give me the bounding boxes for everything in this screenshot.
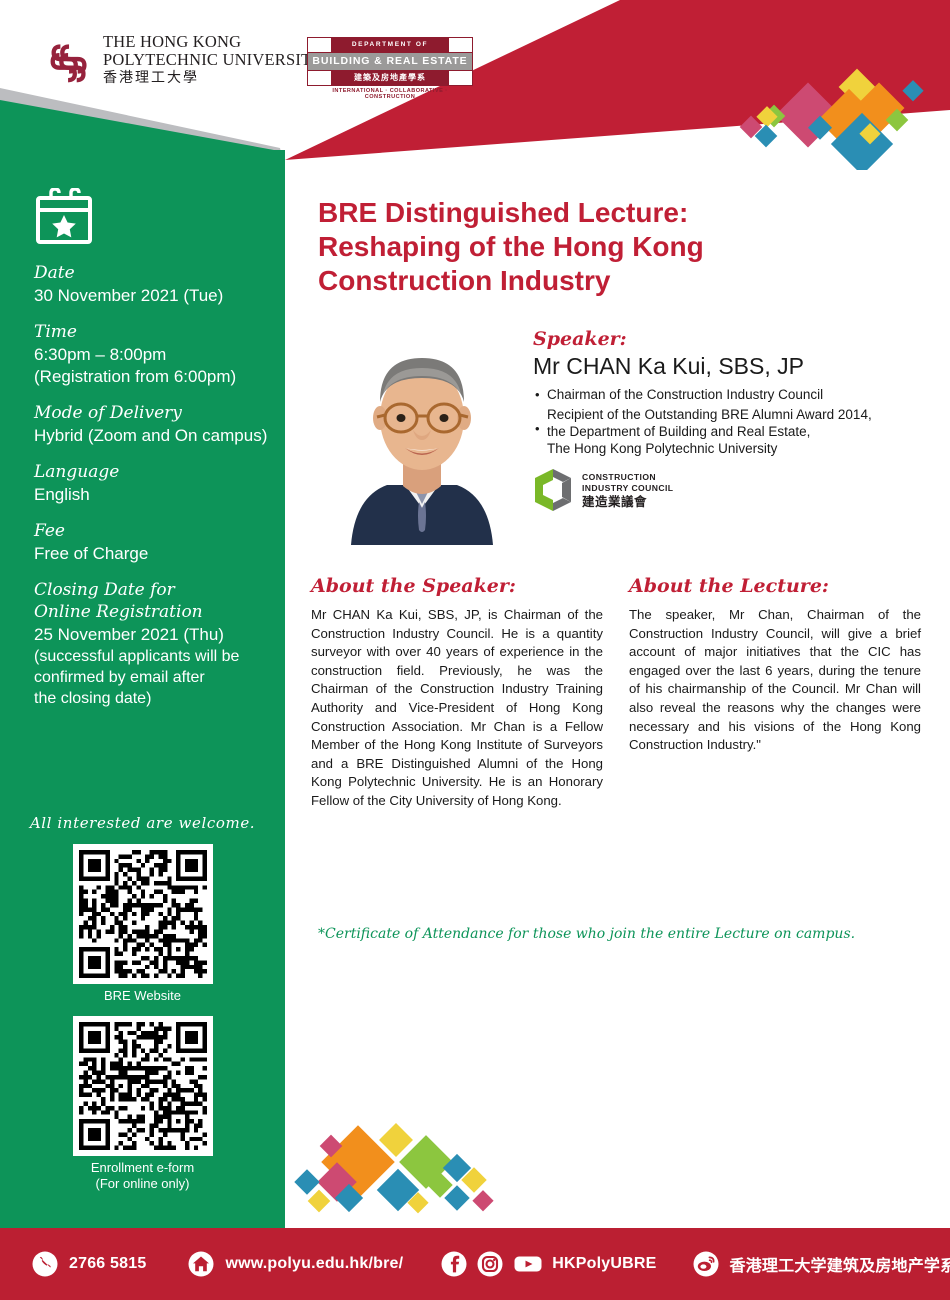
bre-logo-line1: DEPARTMENT OF xyxy=(332,38,448,52)
footer-phone-number: 2766 5815 xyxy=(69,1255,146,1273)
bre-department-logo: DEPARTMENT OF BUILDING & REAL ESTATE 建築及… xyxy=(307,37,473,100)
sidebar: Date 30 November 2021 (Tue) Time 6:30pm … xyxy=(0,150,285,1228)
polyu-logo-chinese: 香港理工大學 xyxy=(103,69,323,87)
sidebar-label-language: Language xyxy=(34,461,284,483)
qr-block-enrollment[interactable]: Enrollment e-form (For online only) xyxy=(0,1016,285,1192)
footer-social-handles[interactable]: HKPolyUBRE xyxy=(441,1251,656,1277)
speaker-portrait-illustration xyxy=(333,330,511,545)
main-content: BRE Distinguished Lecture: Reshaping of … xyxy=(285,150,950,1228)
sidebar-label-closing-date: Closing Date for Online Registration xyxy=(34,579,284,623)
sidebar-note-closing-date: (successful applicants will be confirmed… xyxy=(34,646,284,709)
speaker-info: Speaker: Mr CHAN Ka Kui, SBS, JP Chairma… xyxy=(533,328,933,460)
youtube-icon[interactable] xyxy=(513,1251,543,1277)
bre-logo-tagline: INTERNATIONAL · COLLABORATIVE · CONSTRUC… xyxy=(307,88,473,100)
column-about-speaker: About the Speaker: Mr CHAN Ka Kui, SBS, … xyxy=(311,575,603,811)
certificate-note: *Certificate of Attendance for those who… xyxy=(318,926,918,942)
sidebar-item-closing-date: Closing Date for Online Registration 25 … xyxy=(34,579,284,709)
column-body-about-lecture: The speaker, Mr Chan, Chairman of the Co… xyxy=(629,606,921,755)
sidebar-label-time: Time xyxy=(34,321,284,343)
sidebar-value-time: 6:30pm – 8:00pm (Registration from 6:00p… xyxy=(34,344,284,388)
footer-website[interactable]: www.polyu.edu.hk/bre/ xyxy=(188,1251,403,1277)
qr-code-icon[interactable] xyxy=(79,850,207,978)
page-title: BRE Distinguished Lecture: Reshaping of … xyxy=(318,196,918,298)
column-heading-about-speaker: About the Speaker: xyxy=(311,575,603,597)
sidebar-item-time: Time 6:30pm – 8:00pm (Registration from … xyxy=(34,321,284,388)
facebook-icon[interactable] xyxy=(441,1251,467,1277)
polyu-logo-line1: THE HONG KONG xyxy=(103,33,323,51)
footer-diamond-cluster xyxy=(290,1110,520,1230)
qr-code-enrollment[interactable] xyxy=(73,1016,213,1156)
polyu-emblem-icon xyxy=(46,36,94,84)
footer-weibo-handle: 香港理工大学建筑及房地产学系 xyxy=(730,1252,950,1276)
qr-code-bre-website[interactable] xyxy=(73,844,213,984)
sidebar-value-language: English xyxy=(34,484,284,506)
sidebar-info-list: Date 30 November 2021 (Tue) Time 6:30pm … xyxy=(34,262,284,723)
speaker-name: Mr CHAN Ka Kui, SBS, JP xyxy=(533,352,933,381)
sidebar-label-mode: Mode of Delivery xyxy=(34,402,284,424)
qr-block-bre-website[interactable]: BRE Website xyxy=(0,844,285,1004)
polyu-logo: THE HONG KONG POLYTECHNIC UNIVERSITY 香港理… xyxy=(46,33,323,87)
qr-caption-bre-website: BRE Website xyxy=(0,988,285,1004)
speaker-portrait xyxy=(333,330,511,545)
speaker-credential-item: Recipient of the Outstanding BRE Alumni … xyxy=(533,406,933,457)
column-about-lecture: About the Lecture: The speaker, Mr Chan,… xyxy=(629,575,921,811)
sidebar-label-date: Date xyxy=(34,262,284,284)
column-heading-about-lecture: About the Lecture: xyxy=(629,575,921,597)
bre-logo-line2: BUILDING & REAL ESTATE xyxy=(308,52,472,71)
cic-logo-chinese: 建造業議會 xyxy=(582,494,673,509)
footer-website-url[interactable]: www.polyu.edu.hk/bre/ xyxy=(225,1255,403,1273)
poster-root: THE HONG KONG POLYTECHNIC UNIVERSITY 香港理… xyxy=(0,0,950,1300)
sidebar-label-fee: Fee xyxy=(34,520,284,542)
polyu-logo-line2: POLYTECHNIC UNIVERSITY xyxy=(103,51,323,69)
speaker-kicker: Speaker: xyxy=(533,328,933,350)
cic-logo-line2: INDUSTRY COUNCIL xyxy=(582,483,673,494)
cic-logo-line1: CONSTRUCTION xyxy=(582,472,673,483)
column-body-about-speaker: Mr CHAN Ka Kui, SBS, JP, is Chairman of … xyxy=(311,606,603,811)
calendar-star-icon xyxy=(34,188,94,246)
footer-weibo[interactable]: 香港理工大学建筑及房地产学系 xyxy=(693,1251,950,1277)
bre-logo-chinese: 建築及房地產學系 xyxy=(332,71,448,85)
sidebar-value-closing-date: 25 November 2021 (Thu) xyxy=(34,624,284,646)
footer-phone[interactable]: 2766 5815 xyxy=(32,1251,146,1277)
sidebar-item-language: Language English xyxy=(34,461,284,506)
phone-icon[interactable] xyxy=(32,1251,58,1277)
weibo-icon[interactable] xyxy=(693,1251,719,1277)
home-icon[interactable] xyxy=(188,1251,214,1277)
cic-emblem-icon xyxy=(533,468,575,512)
cic-logo: CONSTRUCTION INDUSTRY COUNCIL 建造業議會 xyxy=(533,468,683,516)
content-columns: About the Speaker: Mr CHAN Ka Kui, SBS, … xyxy=(311,575,921,811)
footer-bar: 2766 5815 www.polyu.edu.hk/bre/ xyxy=(0,1228,950,1300)
sidebar-item-mode: Mode of Delivery Hybrid (Zoom and On cam… xyxy=(34,402,284,447)
speaker-credential-item: Chairman of the Construction Industry Co… xyxy=(533,386,933,403)
sidebar-value-date: 30 November 2021 (Tue) xyxy=(34,285,284,307)
qr-code-icon[interactable] xyxy=(79,1022,207,1150)
welcome-message: All interested are welcome. xyxy=(0,814,285,832)
sidebar-item-fee: Fee Free of Charge xyxy=(34,520,284,565)
speaker-credentials-list: Chairman of the Construction Industry Co… xyxy=(533,386,933,457)
sidebar-value-fee: Free of Charge xyxy=(34,543,284,565)
footer-social-handle: HKPolyUBRE xyxy=(552,1255,656,1273)
instagram-icon[interactable] xyxy=(477,1251,503,1277)
sidebar-item-date: Date 30 November 2021 (Tue) xyxy=(34,262,284,307)
sidebar-value-mode: Hybrid (Zoom and On campus) xyxy=(34,425,284,447)
qr-caption-enrollment: Enrollment e-form (For online only) xyxy=(0,1160,285,1192)
